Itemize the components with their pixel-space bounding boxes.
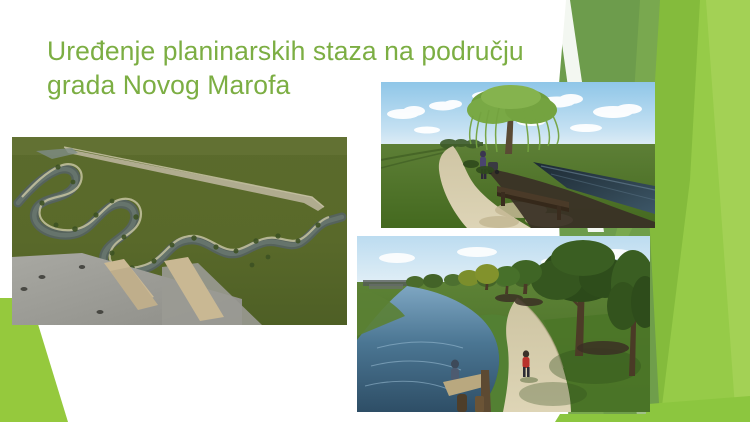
image-aerial-river-plan-render [12,137,347,325]
image-riverside-promenade-render [357,236,650,412]
aerial-render-graphic [12,137,347,325]
green-shape-outer-bright [690,0,750,422]
green-strip-bottom [555,414,750,422]
waste-bin [475,396,484,412]
image-willow-path-bench-render [381,82,655,228]
green-shape-pale-field [640,0,750,422]
green-strip-bottom-2 [644,396,750,422]
willow-render-graphic [381,82,655,228]
riverside-render-graphic [357,236,650,412]
presentation-slide: Uređenje planinarskih staza na području … [0,0,750,422]
